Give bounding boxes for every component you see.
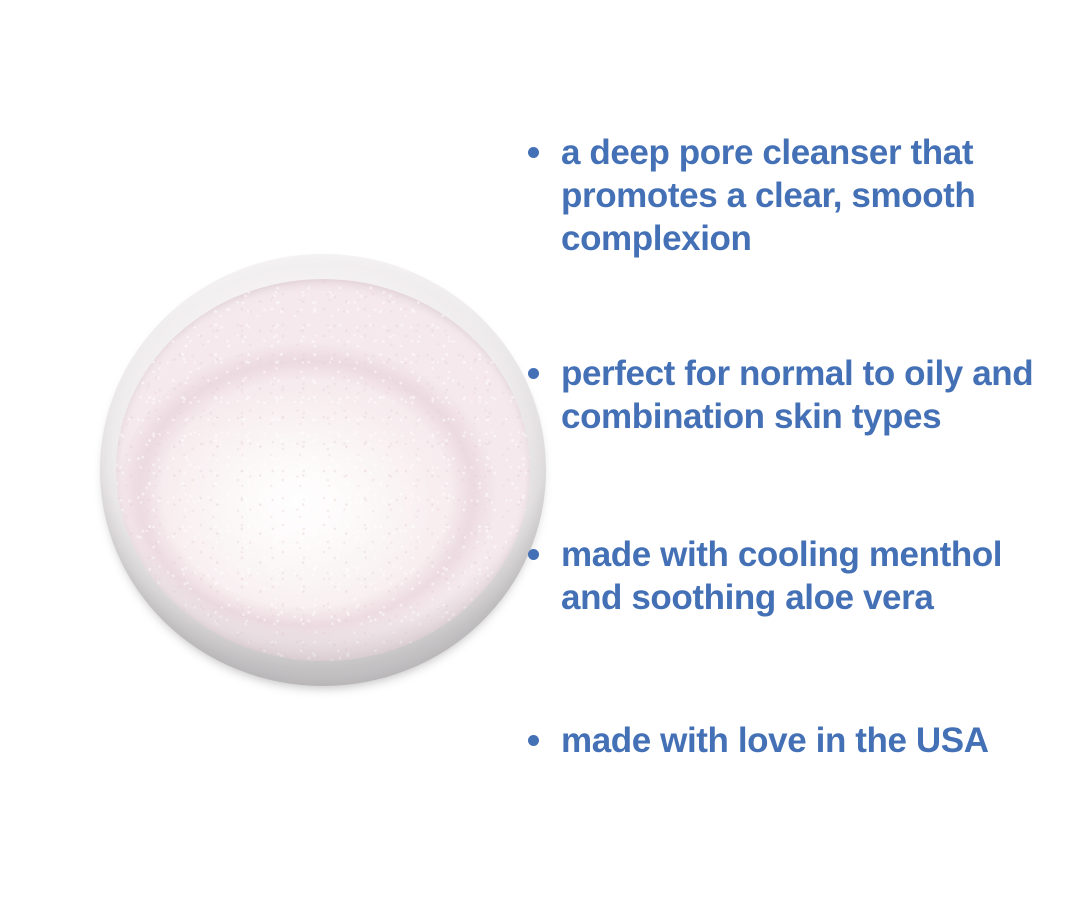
feature-item-label: made with love in the USA — [561, 719, 989, 762]
feature-list-item: a deep pore cleanser that promotes a cle… — [528, 131, 975, 260]
bullet-dot-icon — [528, 147, 539, 158]
powder-grain-texture — [116, 279, 530, 661]
feature-item-label: perfect for normal to oily and combinati… — [561, 352, 1033, 438]
bullet-dot-icon — [528, 368, 539, 379]
feature-list-item: made with love in the USA — [528, 719, 989, 762]
powder-fill — [116, 279, 530, 661]
feature-item-label: a deep pore cleanser that promotes a cle… — [561, 131, 975, 260]
feature-list-item: made with cooling menthol and soothing a… — [528, 533, 1002, 619]
powder-dish — [100, 254, 546, 686]
feature-item-label: made with cooling menthol and soothing a… — [561, 533, 1002, 619]
product-feature-page: a deep pore cleanser that promotes a cle… — [0, 0, 1069, 913]
bullet-dot-icon — [528, 735, 539, 746]
feature-list-item: perfect for normal to oily and combinati… — [528, 352, 1033, 438]
powder-swirl-texture — [116, 279, 530, 661]
bullet-dot-icon — [528, 549, 539, 560]
product-image — [100, 254, 546, 686]
